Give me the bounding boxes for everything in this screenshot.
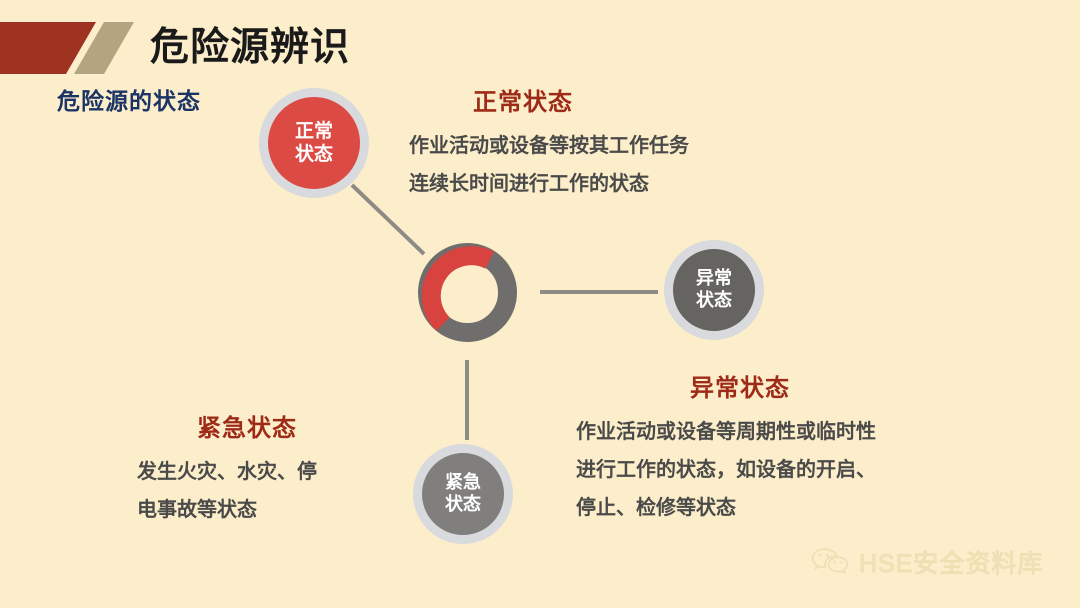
header-decoration xyxy=(0,22,146,74)
node-normal-line2: 状态 xyxy=(295,143,333,166)
node-normal[interactable]: 正常 状态 xyxy=(259,88,369,198)
block-normal-line2: 连续长时间进行工作的状态 xyxy=(409,165,689,203)
text-block-emergency: 紧急状态 发生火灾、水灾、停 电事故等状态 xyxy=(137,408,317,529)
block-normal-line1: 作业活动或设备等按其工作任务 xyxy=(409,127,689,165)
donut-red-arc xyxy=(431,256,489,324)
watermark: HSE安全资料库 xyxy=(810,544,1043,580)
block-abnormal-line1: 作业活动或设备等周期性或临时性 xyxy=(576,413,876,451)
page-subtitle: 危险源的状态 xyxy=(57,82,201,116)
wechat-icon xyxy=(810,546,850,579)
block-emergency-line1: 发生火灾、水灾、停 xyxy=(137,453,317,491)
block-abnormal-heading: 异常状态 xyxy=(576,368,876,403)
node-emergency-line2: 状态 xyxy=(445,494,481,516)
node-abnormal-line1: 异常 xyxy=(696,268,732,290)
page-title: 危险源辨识 xyxy=(150,22,350,74)
block-normal-heading: 正常状态 xyxy=(409,82,689,117)
node-abnormal[interactable]: 异常 状态 xyxy=(664,240,764,340)
text-block-abnormal: 异常状态 作业活动或设备等周期性或临时性 进行工作的状态，如设备的开启、 停止、… xyxy=(576,368,876,527)
block-abnormal-line2: 进行工作的状态，如设备的开启、 xyxy=(576,451,876,489)
node-normal-line1: 正常 xyxy=(295,120,333,143)
block-abnormal-line3: 停止、检修等状态 xyxy=(576,489,876,527)
center-donut-ring xyxy=(415,240,520,345)
watermark-text: HSE安全资料库 xyxy=(859,544,1043,580)
block-emergency-heading: 紧急状态 xyxy=(137,408,317,443)
slide-canvas: 危险源辨识 危险源的状态 正常 状态 异常 状态 紧急 状态 xyxy=(0,0,1080,608)
node-abnormal-line2: 状态 xyxy=(696,290,732,312)
node-emergency[interactable]: 紧急 状态 xyxy=(413,444,513,544)
node-emergency-line1: 紧急 xyxy=(445,472,481,494)
block-emergency-line2: 电事故等状态 xyxy=(137,491,317,529)
text-block-normal: 正常状态 作业活动或设备等按其工作任务 连续长时间进行工作的状态 xyxy=(409,82,689,203)
